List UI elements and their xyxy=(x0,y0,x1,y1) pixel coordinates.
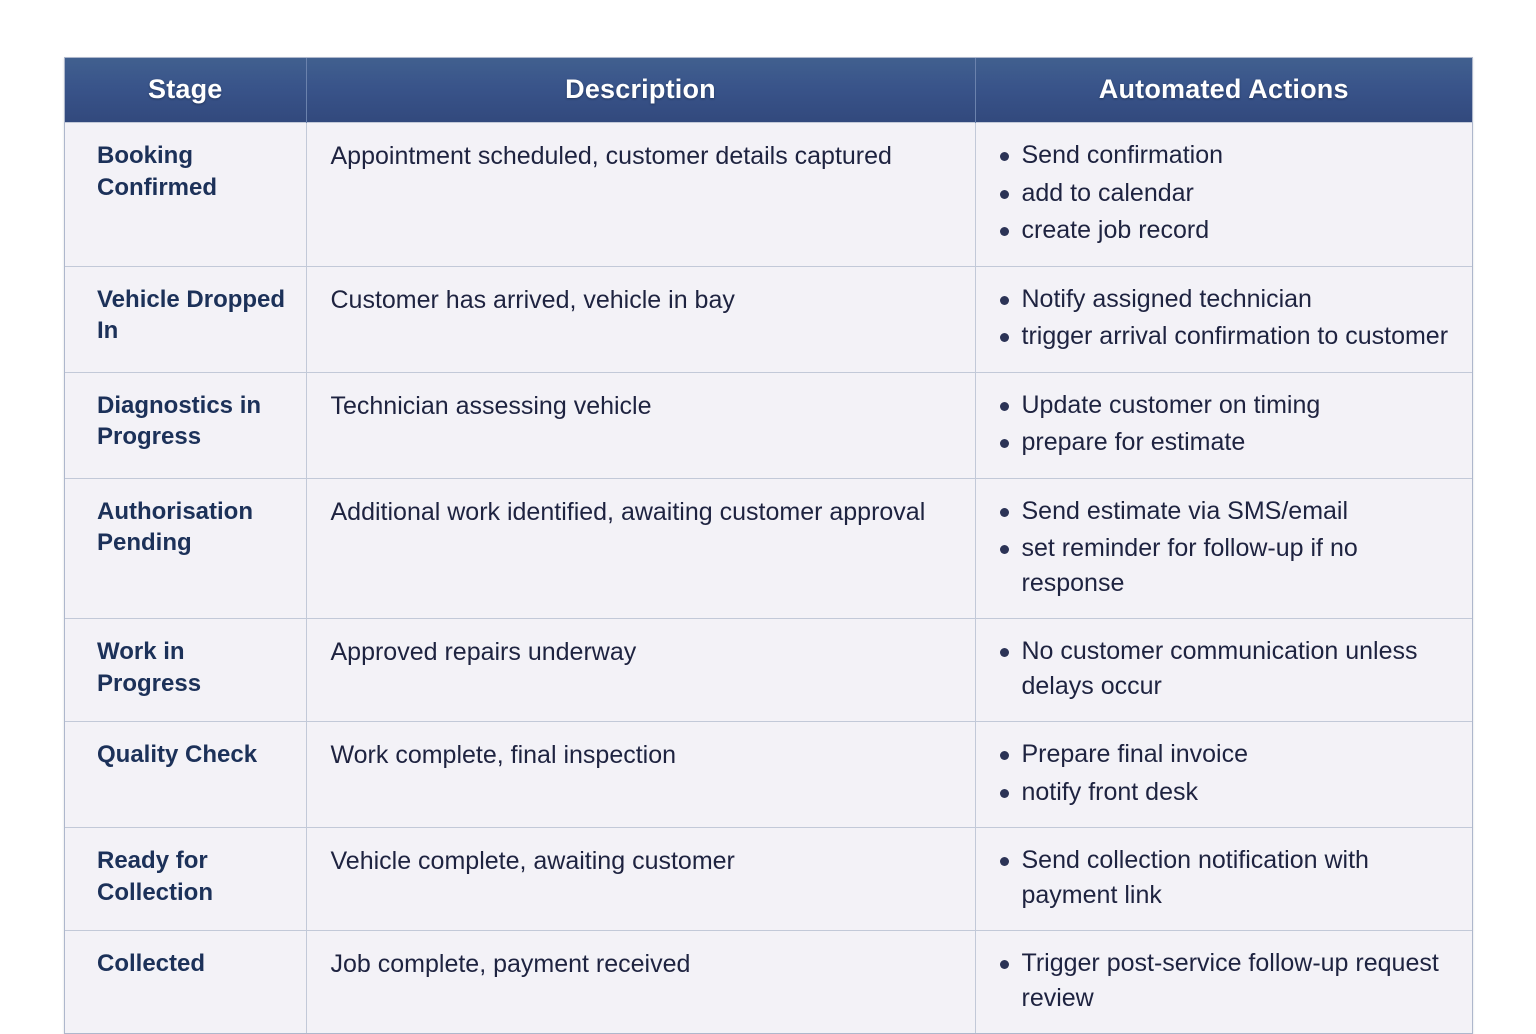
table-row: Ready for CollectionVehicle complete, aw… xyxy=(65,828,1472,931)
automated-actions-cell: Send confirmationadd to calendarcreate j… xyxy=(975,123,1472,267)
automated-action-item: Send estimate via SMS/email xyxy=(1022,493,1455,531)
automated-action-item: add to calendar xyxy=(1022,175,1455,213)
automated-actions-cell: Send collection notification with paymen… xyxy=(975,828,1472,931)
bullet-icon xyxy=(1000,545,1009,554)
table-row: Vehicle Dropped InCustomer has arrived, … xyxy=(65,266,1472,372)
automated-action-label: add to calendar xyxy=(1022,179,1194,207)
bullet-icon xyxy=(1000,648,1009,657)
automated-action-item: Notify assigned technician xyxy=(1022,281,1455,319)
automated-actions-list: Send estimate via SMS/emailset reminder … xyxy=(986,493,1455,603)
automated-action-item: Update customer on timing xyxy=(1022,387,1455,425)
automated-actions-cell: Prepare final invoicenotify front desk xyxy=(975,722,1472,828)
automated-action-label: Update customer on timing xyxy=(1022,391,1321,419)
table-row: Diagnostics in ProgressTechnician assess… xyxy=(65,372,1472,478)
bullet-icon xyxy=(1000,439,1009,448)
automated-action-label: create job record xyxy=(1022,216,1210,244)
automated-actions-cell: Notify assigned techniciantrigger arriva… xyxy=(975,266,1472,372)
description-cell: Approved repairs underway xyxy=(306,619,975,722)
automated-action-item: Send collection notification with paymen… xyxy=(1022,842,1455,914)
table-header-row: Stage Description Automated Actions xyxy=(65,58,1472,123)
bullet-icon xyxy=(1000,333,1009,342)
table-row: Authorisation PendingAdditional work ide… xyxy=(65,478,1472,619)
table-row: Work in ProgressApproved repairs underwa… xyxy=(65,619,1472,722)
stage-cell: Authorisation Pending xyxy=(65,478,306,619)
automated-actions-list: Send confirmationadd to calendarcreate j… xyxy=(986,137,1455,250)
automated-action-label: Send confirmation xyxy=(1022,141,1224,169)
automated-action-label: prepare for estimate xyxy=(1022,428,1246,456)
bullet-icon xyxy=(1000,508,1009,517)
automated-action-label: Send estimate via SMS/email xyxy=(1022,497,1349,525)
bullet-icon xyxy=(1000,857,1009,866)
automated-action-label: Notify assigned technician xyxy=(1022,285,1312,313)
stage-cell: Diagnostics in Progress xyxy=(65,372,306,478)
column-header-stage: Stage xyxy=(65,58,306,123)
workflow-table-container: Stage Description Automated Actions Book… xyxy=(64,57,1473,1034)
automated-actions-list: Prepare final invoicenotify front desk xyxy=(986,736,1455,811)
automated-action-item: Send confirmation xyxy=(1022,137,1455,175)
bullet-icon xyxy=(1000,227,1009,236)
automated-action-label: Prepare final invoice xyxy=(1022,740,1249,768)
stage-cell: Quality Check xyxy=(65,722,306,828)
stage-cell: Ready for Collection xyxy=(65,828,306,931)
bullet-icon xyxy=(1000,296,1009,305)
automated-action-label: Trigger post-service follow-up request r… xyxy=(1022,949,1439,1012)
automated-action-label: No customer communication unless delays … xyxy=(1022,637,1418,700)
automated-actions-list: Notify assigned techniciantrigger arriva… xyxy=(986,281,1455,356)
description-cell: Customer has arrived, vehicle in bay xyxy=(306,266,975,372)
automated-action-item: trigger arrival confirmation to customer xyxy=(1022,318,1455,356)
description-cell: Work complete, final inspection xyxy=(306,722,975,828)
automated-action-item: set reminder for follow-up if no respons… xyxy=(1022,530,1455,602)
automated-action-item: create job record xyxy=(1022,212,1455,250)
automated-action-item: notify front desk xyxy=(1022,774,1455,812)
workflow-stages-table: Stage Description Automated Actions Book… xyxy=(65,58,1472,1033)
description-cell: Technician assessing vehicle xyxy=(306,372,975,478)
automated-action-item: prepare for estimate xyxy=(1022,424,1455,462)
bullet-icon xyxy=(1000,402,1009,411)
automated-action-item: Trigger post-service follow-up request r… xyxy=(1022,945,1455,1017)
automated-actions-cell: No customer communication unless delays … xyxy=(975,619,1472,722)
stage-cell: Collected xyxy=(65,931,306,1034)
bullet-icon xyxy=(1000,152,1009,161)
automated-actions-list: Send collection notification with paymen… xyxy=(986,842,1455,914)
column-header-automated-actions: Automated Actions xyxy=(975,58,1472,123)
stage-cell: Work in Progress xyxy=(65,619,306,722)
automated-actions-list: Update customer on timingprepare for est… xyxy=(986,387,1455,462)
automated-actions-cell: Trigger post-service follow-up request r… xyxy=(975,931,1472,1034)
column-header-description: Description xyxy=(306,58,975,123)
table-row: Booking ConfirmedAppointment scheduled, … xyxy=(65,123,1472,267)
bullet-icon xyxy=(1000,751,1009,760)
bullet-icon xyxy=(1000,960,1009,969)
bullet-icon xyxy=(1000,789,1009,798)
automated-actions-cell: Update customer on timingprepare for est… xyxy=(975,372,1472,478)
automated-action-item: No customer communication unless delays … xyxy=(1022,633,1455,705)
automated-actions-list: Trigger post-service follow-up request r… xyxy=(986,945,1455,1017)
table-row: Quality CheckWork complete, final inspec… xyxy=(65,722,1472,828)
automated-action-label: Send collection notification with paymen… xyxy=(1022,846,1369,909)
table-header: Stage Description Automated Actions xyxy=(65,58,1472,123)
description-cell: Appointment scheduled, customer details … xyxy=(306,123,975,267)
automated-actions-list: No customer communication unless delays … xyxy=(986,633,1455,705)
stage-cell: Booking Confirmed xyxy=(65,123,306,267)
table-row: CollectedJob complete, payment receivedT… xyxy=(65,931,1472,1034)
automated-action-label: notify front desk xyxy=(1022,778,1198,806)
automated-actions-cell: Send estimate via SMS/emailset reminder … xyxy=(975,478,1472,619)
automated-action-label: set reminder for follow-up if no respons… xyxy=(1022,534,1358,597)
bullet-icon xyxy=(1000,190,1009,199)
description-cell: Job complete, payment received xyxy=(306,931,975,1034)
description-cell: Additional work identified, awaiting cus… xyxy=(306,478,975,619)
description-cell: Vehicle complete, awaiting customer xyxy=(306,828,975,931)
automated-action-label: trigger arrival confirmation to customer xyxy=(1022,322,1449,350)
stage-cell: Vehicle Dropped In xyxy=(65,266,306,372)
automated-action-item: Prepare final invoice xyxy=(1022,736,1455,774)
table-body: Booking ConfirmedAppointment scheduled, … xyxy=(65,123,1472,1034)
